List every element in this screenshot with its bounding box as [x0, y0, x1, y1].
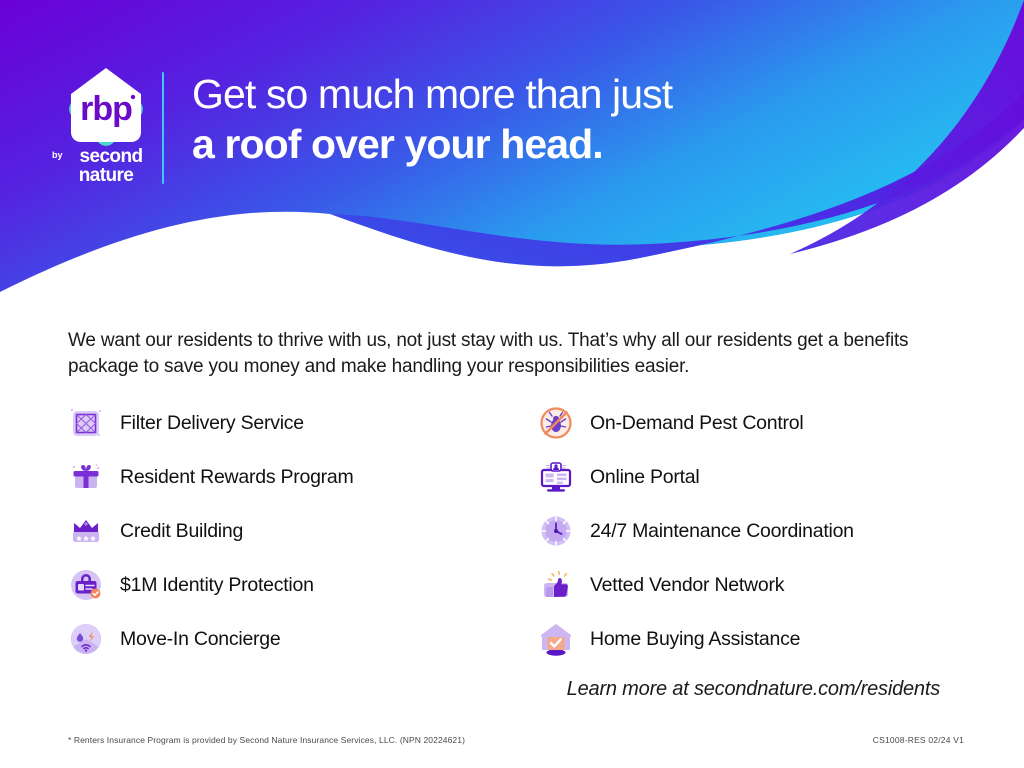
benefit-item: Online Portal: [536, 450, 976, 504]
benefit-label: Home Buying Assistance: [590, 628, 800, 651]
hero-headline: Get so much more than just a roof over y…: [192, 74, 672, 165]
wallet-shield-icon: [66, 564, 106, 606]
credit-crown-icon: [66, 510, 106, 552]
benefit-label: Vetted Vendor Network: [590, 574, 784, 597]
benefit-label: Filter Delivery Service: [120, 412, 304, 435]
svg-text:rbp: rbp: [80, 90, 132, 128]
utilities-wifi-icon: [66, 618, 106, 660]
headline-line-2: a roof over your head.: [192, 124, 672, 165]
clock-icon: [536, 510, 576, 552]
gift-icon: [66, 456, 106, 498]
hero-divider: [162, 72, 164, 184]
no-pest-icon: [536, 402, 576, 444]
hero-banner: rbp by second nature Get so much more th…: [0, 0, 1024, 300]
air-filter-icon: [66, 402, 106, 444]
benefit-item: Filter Delivery Service: [66, 396, 506, 450]
benefit-item: 24/7 Maintenance Coordination: [536, 504, 976, 558]
logo-byline: by second nature: [58, 148, 154, 185]
benefit-label: On-Demand Pest Control: [590, 412, 803, 435]
thumbs-up-icon: [536, 564, 576, 606]
home-check-icon: [536, 618, 576, 660]
benefits-column-right: On-Demand Pest Control: [536, 396, 976, 666]
benefits-section: Filter Delivery Service Resid: [0, 396, 1024, 676]
benefit-label: $1M Identity Protection: [120, 574, 314, 597]
benefit-item: Credit Building: [66, 504, 506, 558]
benefit-item: Vetted Vendor Network: [536, 558, 976, 612]
document-code: CS1008-RES 02/24 V1: [873, 735, 964, 745]
benefits-column-left: Filter Delivery Service Resid: [66, 396, 506, 666]
benefit-label: 24/7 Maintenance Coordination: [590, 520, 854, 543]
rbp-logo: rbp by second nature: [58, 62, 154, 190]
rbp-badge-icon: rbp: [63, 62, 149, 152]
logo-second-text: second: [58, 148, 154, 167]
benefit-item: Home Buying Assistance: [536, 612, 976, 666]
benefit-item: $1M Identity Protection: [66, 558, 506, 612]
learn-more-text: Learn more at secondnature.com/residents: [567, 678, 940, 701]
benefit-label: Resident Rewards Program: [120, 466, 354, 489]
intro-paragraph: We want our residents to thrive with us,…: [68, 328, 948, 380]
benefit-item: On-Demand Pest Control: [536, 396, 976, 450]
monitor-portal-icon: [536, 456, 576, 498]
footnote-text: * Renters Insurance Program is provided …: [68, 735, 465, 745]
benefit-label: Credit Building: [120, 520, 243, 543]
benefit-label: Move-In Concierge: [120, 628, 281, 651]
logo-by-text: by: [52, 151, 63, 160]
logo-nature-text: nature: [58, 167, 154, 186]
headline-line-1: Get so much more than just: [192, 74, 672, 115]
benefit-item: Resident Rewards Program: [66, 450, 506, 504]
flyer-page: rbp by second nature Get so much more th…: [0, 0, 1024, 768]
benefit-label: Online Portal: [590, 466, 699, 489]
benefit-item: Move-In Concierge: [66, 612, 506, 666]
